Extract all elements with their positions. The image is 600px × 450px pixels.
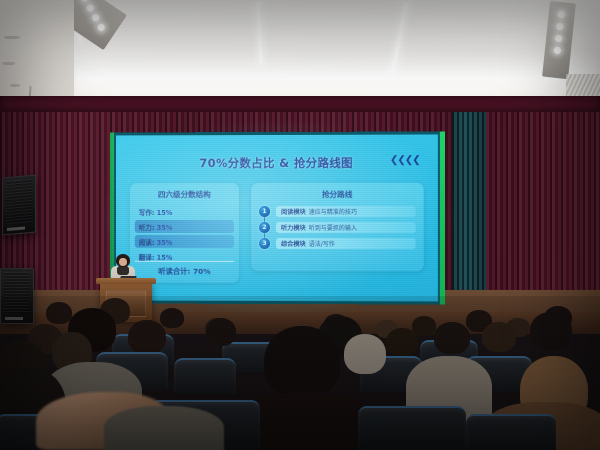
audience-shadow-overlay — [0, 296, 600, 450]
step-number-badge: 3 — [259, 238, 270, 249]
ceiling-vent — [566, 74, 600, 98]
led-screen: 70%分数占比 & 抢分路线图 ❮❮❮❮ 四六级分数结构 写作: 15% 听力:… — [116, 135, 438, 302]
ceiling — [0, 0, 600, 104]
curtain-valance — [0, 96, 600, 112]
step-number-badge: 2 — [259, 222, 270, 233]
step-number-badge: 1 — [259, 206, 270, 217]
loudspeaker-upper — [2, 175, 36, 236]
screen-bloom — [116, 135, 438, 302]
led-screen-frame: 70%分数占比 & 抢分路线图 ❮❮❮❮ 四六级分数结构 写作: 15% 听力:… — [113, 131, 441, 304]
lecture-hall-photo: 70%分数占比 & 抢分路线图 ❮❮❮❮ 四六级分数结构 写作: 15% 听力:… — [0, 0, 600, 450]
left-wall — [0, 0, 74, 108]
ceiling-glow — [72, 52, 600, 98]
screen-edge-right — [440, 131, 445, 304]
audience — [0, 296, 600, 450]
